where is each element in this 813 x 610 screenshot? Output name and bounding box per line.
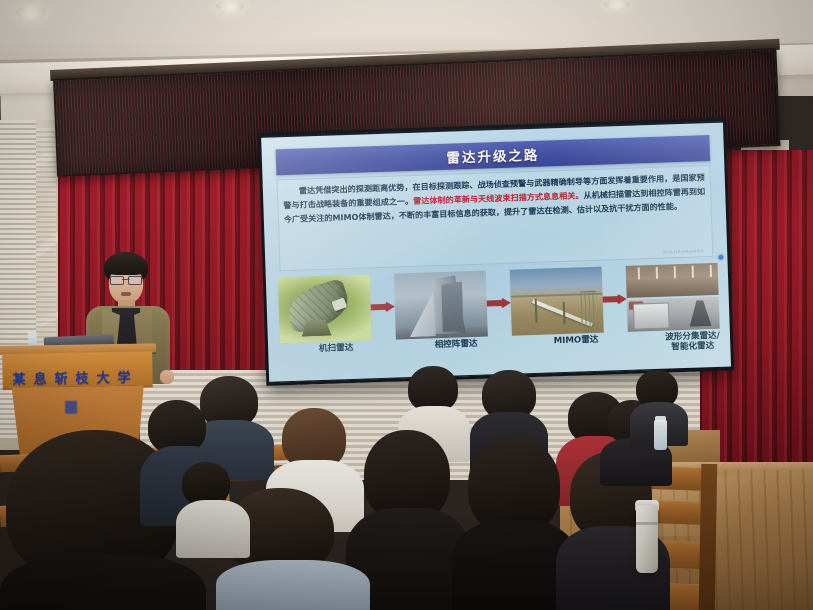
pipeline-arrow-icon bbox=[487, 297, 511, 310]
waveform-diversity-lab-photo bbox=[626, 263, 720, 332]
slide-paragraph: 雷达凭借突出的探测距离优势，在目标探测跟踪、战场侦查预警与武器精确制导等方面发挥… bbox=[283, 170, 706, 227]
ceiling-downlight-icon bbox=[16, 4, 46, 21]
projection-screen: 雷达升级之路 雷达凭借突出的探测距离优势，在目标探测跟踪、战场侦查预警与武器精确… bbox=[258, 117, 734, 385]
podium-char-4: 枝 bbox=[75, 367, 88, 386]
pipeline-arrow-icon bbox=[371, 301, 395, 314]
podium-university-name: 某 息 斩 枝 大 学 bbox=[8, 364, 134, 390]
pipeline-image-waveform-diversity bbox=[626, 263, 720, 332]
audience-member bbox=[176, 462, 246, 552]
phased-array-tower-photo bbox=[394, 271, 488, 340]
audience-torso bbox=[216, 560, 370, 610]
ceiling-downlight-icon bbox=[604, 0, 630, 9]
thermos-cup bbox=[636, 505, 658, 573]
pipeline-image-phased-array bbox=[394, 271, 488, 340]
mimo-field-antenna-photo bbox=[510, 267, 604, 336]
audience-torso bbox=[176, 500, 250, 558]
radar-evolution-pipeline bbox=[278, 263, 720, 344]
pipeline-arrow-icon bbox=[603, 293, 627, 306]
podium-front-panel: 某 息 斩 枝 大 学 bbox=[2, 351, 153, 390]
parabolic-dish-radar-photo bbox=[278, 274, 372, 343]
podium-char-3: 斩 bbox=[54, 367, 67, 386]
slide-watermark: 本科生科研创新训练项目 bbox=[662, 248, 704, 254]
slide-body-highlight: 雷达体制的革新与天线波束扫描方式息息相关。 bbox=[413, 190, 584, 206]
pipeline-caption-4: 波形分集雷达/ 智能化雷达 bbox=[640, 330, 731, 353]
ceiling-downlight-icon bbox=[216, 0, 244, 12]
podium-char-5: 大 bbox=[96, 367, 109, 386]
pipeline-image-mechanical-scan bbox=[278, 274, 372, 343]
pipeline-caption-1: 机扫雷达 bbox=[286, 342, 386, 355]
podium-char-6: 学 bbox=[117, 366, 130, 385]
audience-torso bbox=[0, 554, 206, 610]
pipeline-caption-3: MIMO雷达 bbox=[526, 334, 626, 347]
lecture-hall-photo: 雷达升级之路 雷达凭借突出的探测距离优势，在目标探测跟踪、战场侦查预警与武器精确… bbox=[0, 0, 813, 610]
thermos-band bbox=[636, 522, 658, 525]
pipeline-caption-2: 相控阵雷达 bbox=[406, 338, 506, 351]
presenter-hand bbox=[160, 370, 174, 384]
water-bottle bbox=[654, 420, 667, 450]
podium-char-1: 某 bbox=[12, 368, 25, 387]
podium-char-2: 息 bbox=[33, 368, 46, 387]
slide-body-box: 雷达凭借突出的探测距离优势，在目标探测跟踪、战场侦查预警与武器精确制导等方面发挥… bbox=[277, 165, 714, 271]
slide-title: 雷达升级之路 bbox=[446, 144, 540, 167]
pipeline-image-mimo bbox=[510, 267, 604, 336]
bench-side-panel bbox=[699, 464, 718, 610]
podium-emblem bbox=[65, 401, 77, 414]
presenter-mouth bbox=[121, 292, 131, 296]
glasses-icon bbox=[110, 276, 142, 283]
presenter-fringe bbox=[105, 260, 147, 275]
screen-surface: 雷达升级之路 雷达凭借突出的探测距离优势，在目标探测跟踪、战场侦查预警与武器精确… bbox=[261, 123, 731, 382]
slide-bullet-dot bbox=[718, 255, 723, 260]
